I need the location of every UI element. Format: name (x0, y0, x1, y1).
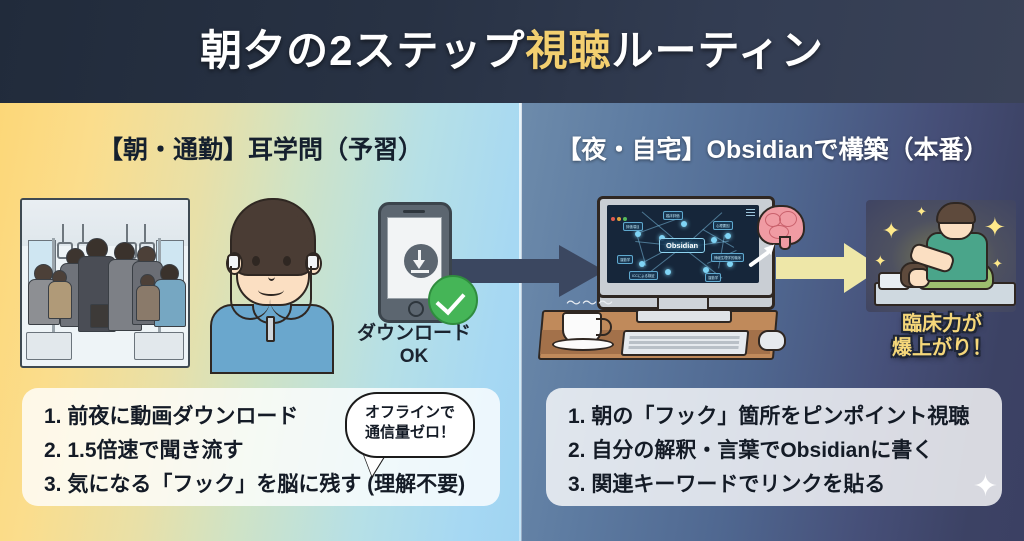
graph-node-label: ICCによる検証 (629, 271, 658, 280)
sparkle-icon: ✦ (973, 469, 998, 504)
therapist-hair (936, 202, 976, 224)
graph-node-label: 心理要因 (713, 221, 733, 230)
bubble-line2: 通信量ゼロ！ (347, 423, 473, 443)
train-strap (144, 224, 146, 244)
keyboard-icon (621, 330, 750, 356)
badge-line1: 臨床力が (866, 312, 1018, 336)
treatment-illustration: ✦ ✦ ✦ ✦ ✦ (866, 200, 1016, 312)
arrow-shaft (776, 257, 848, 279)
steam-icon: 〜〜〜 (566, 292, 614, 313)
download-label-line1: ダウンロード (330, 322, 498, 345)
graph-node-label: 運動学 (617, 255, 633, 264)
upward-arrow-icon (747, 243, 777, 265)
download-arrow-head (413, 260, 425, 269)
train-seat (26, 332, 72, 360)
title-bar: 朝夕の2ステップ視聴ルーティン (0, 0, 1024, 103)
page-title: 朝夕の2ステップ視聴ルーティン (0, 17, 1024, 78)
sparkle-icon: ✦ (882, 218, 900, 244)
person-fringe (233, 214, 309, 244)
sparkle-icon: ✦ (984, 212, 1006, 243)
graph-node-label: 臨床評価 (663, 211, 683, 220)
download-status-label: ダウンロード OK (330, 322, 498, 368)
train-strap (126, 224, 128, 244)
list-item: 3. 気になる「フック」を脳に残す (理解不要) (44, 468, 465, 502)
obsidian-center-node: Obsidian (659, 238, 705, 253)
badge-line2: 爆上がり！ (866, 336, 1018, 360)
title-pre: 朝夕の2ステップ (200, 27, 525, 74)
status-badge: 臨床力が 爆上がり！ (866, 312, 1018, 360)
train-strap (82, 224, 84, 244)
graph-node-label: 評価項目 (623, 222, 643, 231)
train-seat (134, 332, 184, 360)
download-label-line2: OK (330, 345, 498, 368)
green-check-icon (428, 275, 478, 325)
download-baseline (411, 270, 429, 273)
right-bullet-card: 1. 朝の「フック」箇所をピンポイント視聴 2. 自分の解釈・言葉でObsidi… (546, 388, 1002, 506)
graph-node-label: 神経生理学的機序 (711, 253, 744, 262)
list-item: 3. 関連キーワードでリンクを貼る (568, 468, 969, 502)
phone-speaker (403, 210, 425, 213)
cup-saucer (552, 338, 614, 351)
panel-divider (519, 103, 522, 541)
person-eye (283, 256, 291, 266)
earphone-jack (266, 316, 275, 342)
list-item: 2. 自分の解釈・言葉でObsidianに書く (568, 434, 969, 468)
title-highlight: 視聴 (525, 27, 611, 74)
right-bullet-list: 1. 朝の「フック」箇所をピンポイント視聴 2. 自分の解釈・言葉でObsidi… (568, 400, 969, 502)
earphone-cord (270, 266, 312, 320)
mouse-icon (758, 330, 786, 351)
bubble-line1: オフラインで (347, 403, 473, 423)
sparkle-icon: ✦ (916, 204, 927, 220)
person-eye (252, 256, 260, 266)
sparkle-icon: ✦ (992, 256, 1003, 272)
person-with-earphones-illustration (200, 196, 340, 368)
graph-node-label: 運動学 (705, 273, 721, 282)
speech-bubble: オフラインで 通信量ゼロ！ (345, 392, 475, 458)
monitor-base (636, 309, 732, 323)
hamburger-icon (746, 209, 755, 210)
obsidian-graph-screen: 臨床評価 評価項目 心理要因 運動学 神経生理学的機序 ICCによる検証 運動学… (607, 205, 759, 283)
sparkle-icon: ✦ (874, 252, 887, 270)
commuter-train-illustration (20, 198, 190, 368)
earphone-cord (230, 266, 270, 320)
list-item: 1. 朝の「フック」箇所をピンポイント視聴 (568, 400, 969, 434)
speech-bubble-text: オフラインで 通信量ゼロ！ (347, 403, 473, 444)
left-panel-header: 【朝・通勤】耳学問（予習） (0, 130, 521, 166)
phone-home-button (408, 301, 424, 317)
right-panel-header: 【夜・自宅】Obsidianで構築（本番） (521, 130, 1024, 166)
train-strap (62, 224, 64, 244)
infographic-root: 朝夕の2ステップ視聴ルーティン 【朝・通勤】耳学問（予習） 【夜・自宅】Obsi… (0, 0, 1024, 541)
title-post: ルーティン (611, 27, 823, 74)
